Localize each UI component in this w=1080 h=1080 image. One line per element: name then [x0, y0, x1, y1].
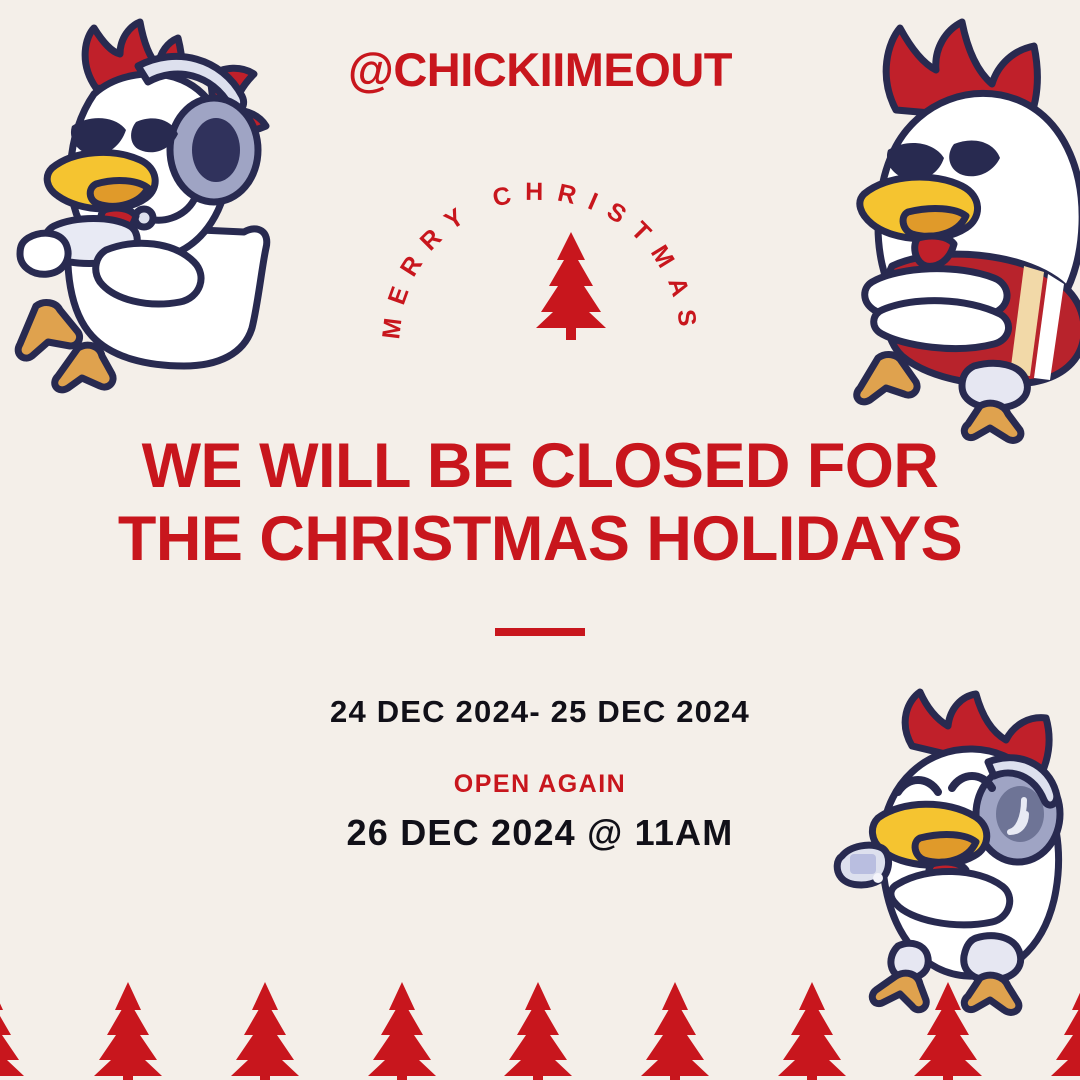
poster-canvas: @CHICKIIMEOUT MERRY CHRISTMAS WE WILL BE…: [0, 0, 1080, 1080]
tree-border-decoration: [0, 962, 1080, 1080]
merry-christmas-badge: MERRY CHRISTMAS: [378, 128, 702, 358]
divider-rule: [495, 628, 585, 636]
gamer-chicken-mascot: [8, 18, 293, 388]
christmas-tree-icon: [511, 228, 631, 340]
page-title: WE WILL BE CLOSED FOR THE CHRISTMAS HOLI…: [0, 430, 1080, 576]
headline-line-1: WE WILL BE CLOSED FOR: [142, 431, 939, 501]
headline-line-2: THE CHRISTMAS HOLIDAYS: [0, 503, 1080, 576]
varsity-jacket-chicken-mascot: [838, 14, 1080, 439]
